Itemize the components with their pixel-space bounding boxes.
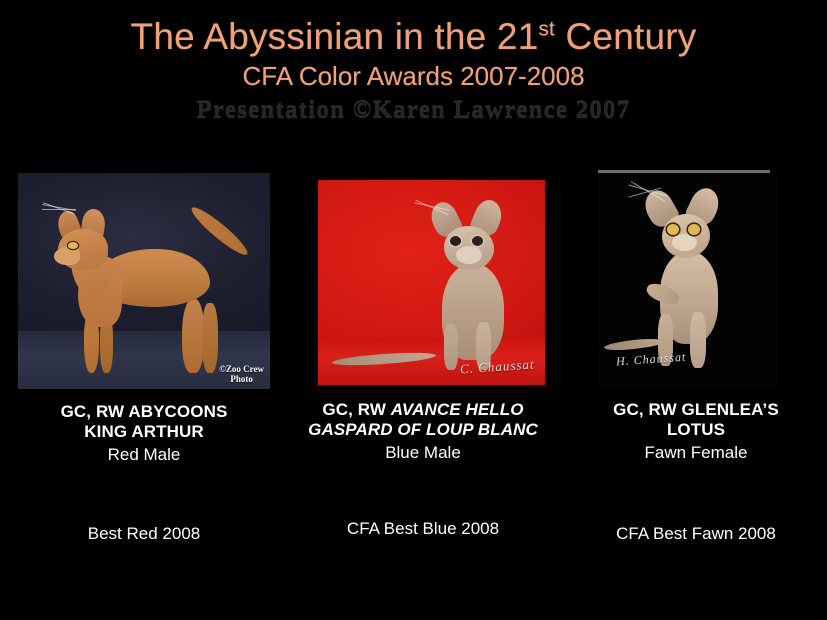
slide-subtitle: CFA Color Awards 2007-2008 [0, 57, 827, 92]
caption-fawn: GC, RW GLENLEA’S LOTUS Fawn Female [566, 400, 826, 464]
caption-blue: GC, RW AVANCE HELLO GASPARD OF LOUP BLAN… [286, 400, 560, 464]
cat-color-sex: Red Male [6, 442, 282, 466]
cat-front-leg-left [444, 324, 458, 370]
cat-title-name: GC, RW AVANCE HELLO GASPARD OF LOUP BLAN… [286, 400, 560, 440]
cat-photo-red: ©Zoo Crew Photo [18, 173, 270, 389]
cat-eye-left [450, 236, 461, 246]
award-blue: CFA Best Blue 2008 [286, 519, 560, 539]
cat-front-leg-right [690, 312, 706, 368]
award-red: Best Red 2008 [6, 524, 282, 544]
cat-name-line-1: GC, RW GLENLEA’S [613, 400, 779, 419]
cat-eye-right [688, 224, 700, 235]
red-abyssinian-illustration [42, 207, 252, 382]
cat-eye-left [667, 224, 679, 235]
cat-muzzle [456, 246, 482, 264]
award-fawn: CFA Best Fawn 2008 [566, 524, 826, 544]
cat-muzzle [54, 247, 80, 265]
cat-back-leg-right [202, 303, 218, 373]
cat-name-line-2: KING ARTHUR [84, 422, 203, 441]
photo-backdrop: H. Chaussat [598, 176, 778, 389]
page-title: The Abyssinian in the 21st Century [0, 0, 827, 57]
cat-name-line-1: GC, RW ABYCOONS [61, 402, 228, 421]
cat-color-sex: Fawn Female [566, 440, 826, 464]
title-tail: Century [555, 16, 696, 57]
blue-abyssinian-illustration [414, 206, 544, 376]
cat-tail [188, 203, 252, 260]
cat-eye-right [472, 236, 483, 246]
caption-red: GC, RW ABYCOONS KING ARTHUR Red Male [6, 402, 282, 466]
cat-back-leg-left [182, 299, 204, 373]
cat-photo-fawn: H. Chaussat [598, 176, 778, 389]
cat-title-name: GC, RW ABYCOONS KING ARTHUR [6, 402, 282, 442]
photo-backdrop: ©Zoo Crew Photo [18, 173, 270, 389]
cat-color-sex: Blue Male [286, 440, 560, 464]
horizontal-rule [598, 170, 770, 173]
cat-eye [68, 242, 78, 249]
presentation-slide: The Abyssinian in the 21st Century CFA C… [0, 0, 827, 620]
cat-whisker [42, 209, 76, 210]
cat-tail [604, 337, 665, 352]
cat-name-line-2: LOTUS [667, 420, 725, 439]
title-main: The Abyssinian in the 21 [131, 16, 539, 57]
cat-photo-blue: C. Chaussat [318, 180, 545, 385]
title-superscript: st [538, 18, 555, 41]
cat-title-name: GC, RW GLENLEA’S LOTUS [566, 400, 826, 440]
cat-muzzle [672, 234, 697, 251]
photo-watermark: ©Zoo Crew Photo [219, 365, 264, 385]
presentation-credit: Presentation ©Karen Lawrence 2007 [0, 92, 827, 125]
photo-backdrop: C. Chaussat [318, 180, 545, 385]
cat-name-prefix: GC, RW [322, 400, 390, 419]
watermark-line-2: Photo [219, 375, 264, 385]
slide-header: The Abyssinian in the 21st Century CFA C… [0, 0, 827, 125]
